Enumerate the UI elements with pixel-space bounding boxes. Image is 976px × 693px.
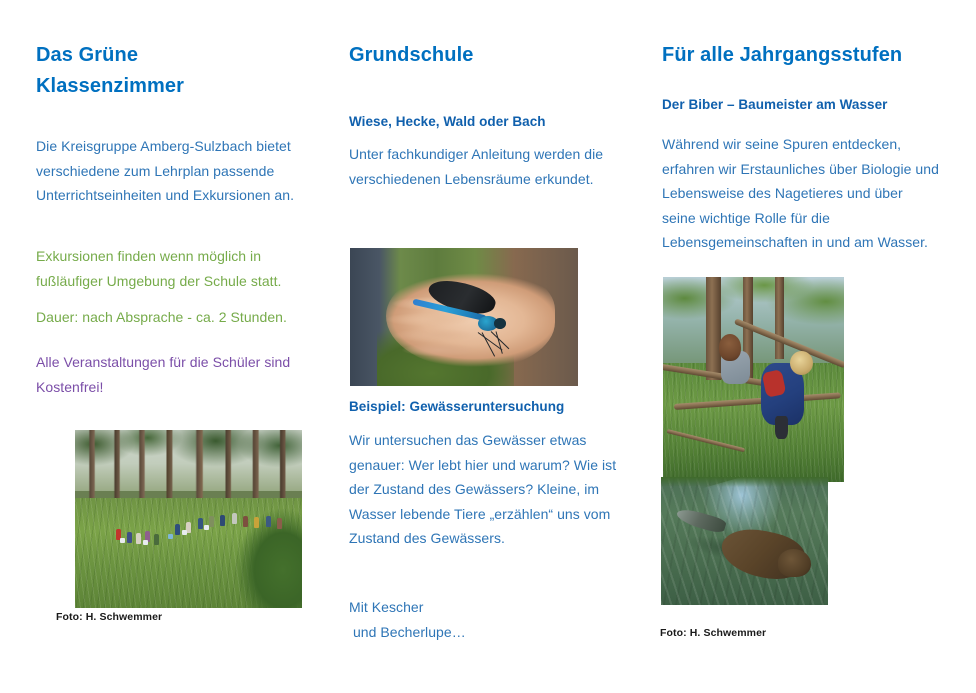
heading-line-1: Das Grüne bbox=[36, 40, 316, 71]
poster-page: Das Grüne Klassenzimmer Die Kreisgruppe … bbox=[0, 0, 976, 693]
photo-beaver-swimming bbox=[661, 477, 828, 605]
beaver-head bbox=[778, 549, 811, 577]
column-left: Das Grüne Klassenzimmer Die Kreisgruppe … bbox=[36, 0, 322, 693]
column-middle-heading: Grundschule bbox=[349, 40, 629, 71]
column-right-heading: Für alle Jahrgangsstufen bbox=[662, 40, 952, 71]
paragraph-equipment: Mit Kescher und Becherlupe… bbox=[349, 595, 633, 644]
paragraph-duration: Dauer: nach Absprache - ca. 2 Stunden. bbox=[36, 305, 322, 330]
subheading-water-study: Beispiel: Gewässeruntersuchung bbox=[349, 398, 633, 416]
subheading-habitats: Wiese, Hecke, Wald oder Bach bbox=[349, 113, 633, 131]
column-left-heading: Das Grüne Klassenzimmer bbox=[36, 40, 316, 102]
child-left-head bbox=[719, 334, 741, 361]
equipment-line-2: und Becherlupe… bbox=[349, 620, 633, 645]
photo-damselfly-on-hand bbox=[350, 248, 578, 386]
photo-people-group bbox=[75, 498, 302, 559]
column-right: Für alle Jahrgangsstufen Der Biber – Bau… bbox=[662, 0, 952, 693]
photo-forest-school-group bbox=[75, 430, 302, 608]
paragraph-guided-exploration: Unter fachkundiger Anleitung werden die … bbox=[349, 142, 621, 191]
photo-credit-right: Foto: H. Schwemmer bbox=[660, 627, 766, 639]
photo-children-on-branches bbox=[663, 277, 844, 482]
paragraph-beaver: Während wir seine Spuren entdecken, erfa… bbox=[662, 132, 940, 255]
equipment-line-1: Mit Kescher bbox=[349, 595, 633, 620]
photo-credit-left: Foto: H. Schwemmer bbox=[56, 611, 162, 623]
subheading-beaver: Der Biber – Baumeister am Wasser bbox=[662, 96, 952, 114]
paragraph-water-study: Wir untersuchen das Gewässer etwas genau… bbox=[349, 428, 633, 551]
heading-line-2: Klassenzimmer bbox=[36, 71, 316, 102]
paragraph-excursions: Exkursionen finden wenn möglich in fußlä… bbox=[36, 244, 322, 293]
column-middle: Grundschule Wiese, Hecke, Wald oder Bach… bbox=[349, 0, 633, 693]
paragraph-intro: Die Kreisgruppe Amberg-Sulzbach bietet v… bbox=[36, 134, 322, 208]
paragraph-free-of-charge: Alle Veranstaltungen für die Schüler sin… bbox=[36, 350, 322, 399]
